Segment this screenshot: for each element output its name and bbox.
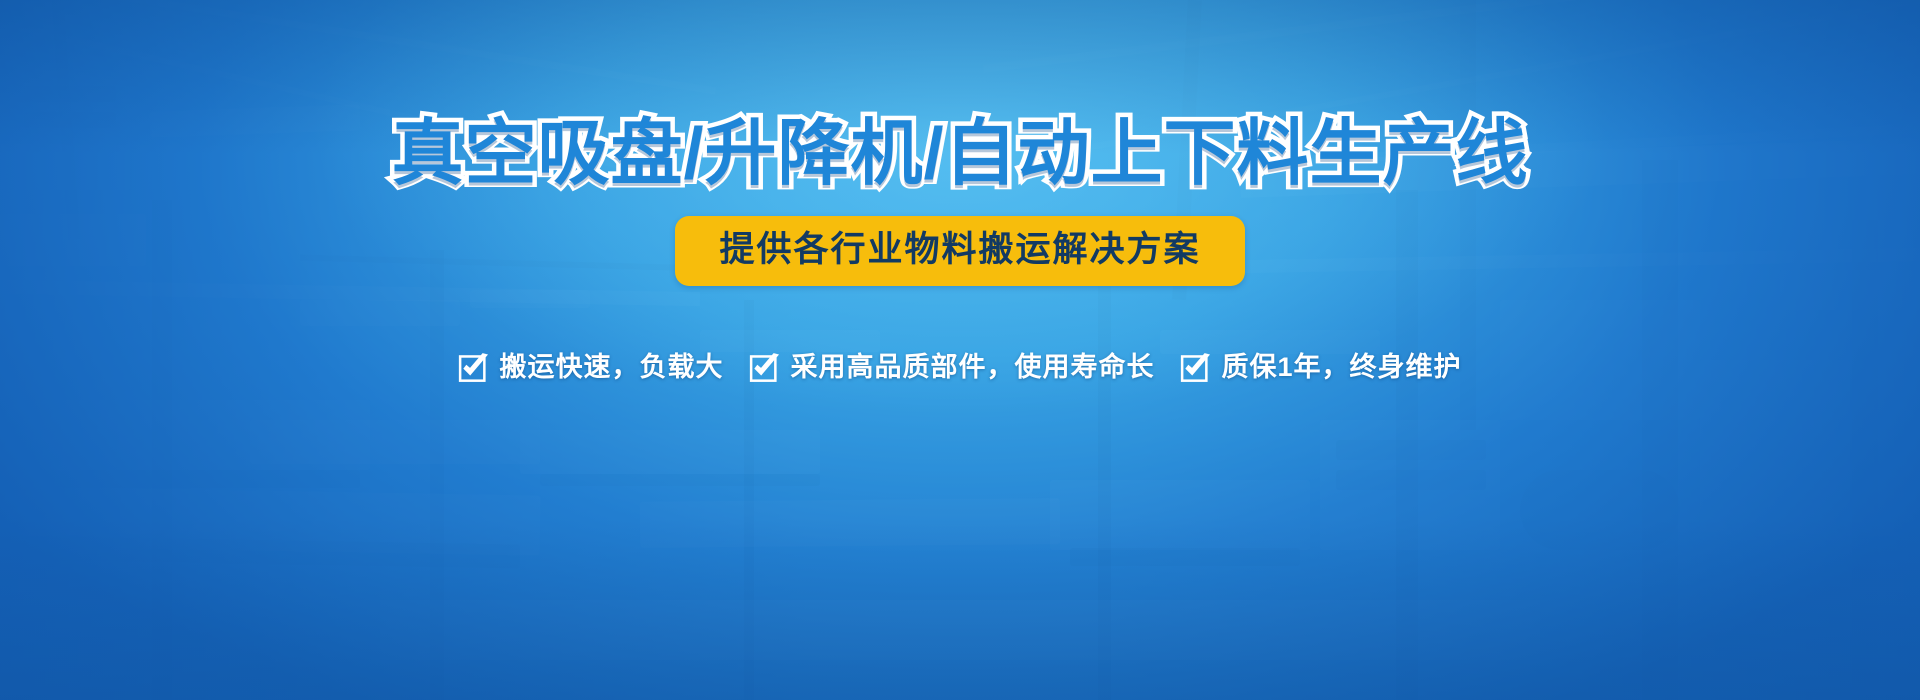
feature-label: 采用高品质部件，使用寿命长 [790, 354, 1154, 381]
banner-content: 真空吸盘/升降机/自动上下料生产线 提供各行业物料搬运解决方案 搬运快速，负载大 [0, 0, 1920, 700]
feature-label: 质保1年，终身维护 [1221, 354, 1461, 381]
feature-item: 采用高品质部件，使用寿命长 [749, 352, 1154, 383]
feature-list: 搬运快速，负载大 采用高品质部件，使用寿命长 [458, 352, 1461, 383]
feature-item: 搬运快速，负载大 [458, 352, 723, 383]
feature-item: 质保1年，终身维护 [1180, 352, 1461, 383]
banner-headline: 真空吸盘/升降机/自动上下料生产线 [391, 118, 1528, 190]
feature-label: 搬运快速，负载大 [499, 354, 723, 381]
banner-subtitle-pill: 提供各行业物料搬运解决方案 [675, 216, 1244, 286]
checkbox-check-icon [1180, 352, 1211, 383]
hero-banner: 真空吸盘/升降机/自动上下料生产线 提供各行业物料搬运解决方案 搬运快速，负载大 [0, 0, 1920, 700]
checkbox-check-icon [458, 352, 489, 383]
checkbox-check-icon [749, 352, 780, 383]
